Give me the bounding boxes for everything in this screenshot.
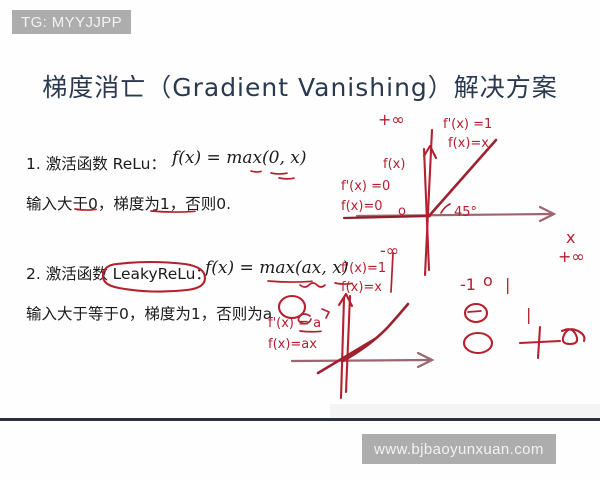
leaky-rising-branch: [343, 304, 408, 361]
underline-max: [268, 281, 312, 282]
label-leaky-func-x: f(x)=x: [341, 280, 382, 295]
item-1-label: 1. 激活函数 ReLu：: [26, 152, 166, 174]
label-func-x: f(x)=x: [448, 136, 489, 151]
relu-y-arrowhead: [424, 146, 436, 158]
note-row-3-zero: [464, 333, 492, 353]
leaky-x-axis: [292, 360, 430, 361]
label-45-degrees: 45°: [454, 205, 477, 220]
relu-x-axis: [357, 214, 552, 216]
leaky-vertical-tick: [391, 253, 393, 292]
label-x-axis: x: [566, 228, 575, 247]
item-2-formula: f(x) = max(ax, x): [205, 258, 348, 278]
note-row-1: -1: [460, 275, 476, 294]
label-deriv-one: f'(x) =1: [443, 117, 492, 132]
leaky-y-axis-a: [341, 298, 344, 398]
label-origin: o: [398, 204, 406, 219]
arrow-scribble: [322, 309, 329, 318]
label-leaky-deriv-a: f'(x) = a: [268, 316, 321, 331]
relu-rising-branch: [429, 140, 496, 216]
watermark-bottom: www.bjbaoyunxuan.com: [362, 434, 556, 464]
note-plus-horizontal: [520, 341, 560, 343]
note-row-1-one: |: [505, 275, 510, 294]
leaky-y-arrowhead: [339, 294, 352, 306]
note-row-2-one: |: [526, 305, 531, 324]
item-1-formula-text: f(x) = max(0, x): [172, 148, 307, 168]
label-plus-infinity-top: +∞: [378, 110, 405, 129]
leaky-x-arrowhead: [418, 353, 432, 367]
leaky-y-axis-b: [346, 296, 350, 392]
label-minus-infinity: -∞: [380, 241, 399, 260]
relu-angle-arc: [441, 204, 450, 213]
note-row-1-zero: o: [483, 271, 493, 290]
note-circled-zero: [465, 304, 487, 322]
leaky-left-branch: [318, 339, 375, 373]
divider-glow: [330, 404, 600, 418]
divider-rule: [0, 418, 600, 421]
slide-canvas: 梯度消亡（Gradient Vanishing）解决方案 1. 激活函数 ReL…: [0, 0, 600, 480]
underline-x-3: [335, 283, 352, 284]
item-2-formula-text: f(x) = max(ax, x): [205, 258, 348, 278]
underline-a-value: [300, 331, 321, 332]
label-func-zero: f(x)=0: [341, 199, 383, 214]
label-x-plus-infinity: +∞: [558, 247, 585, 266]
note-plus-vertical: [538, 327, 540, 358]
underline-x-2: [279, 178, 294, 179]
label-leaky-func-ax: f(x)=ax: [268, 337, 317, 352]
underline-x: [271, 173, 287, 174]
note-infinity-symbol: [562, 329, 584, 344]
item-1-formula: f(x) = max(0, x): [172, 148, 307, 168]
note-zero-stroke: [468, 311, 481, 312]
watermark-top: TG: MYYJJPP: [12, 10, 131, 34]
underline-zero: [251, 171, 261, 172]
label-deriv-zero: f'(x) =0: [341, 179, 390, 194]
item-2-label: 2. 激活函数 LeakyReLu：: [26, 262, 211, 284]
circle-a: [279, 296, 305, 318]
page-title: 梯度消亡（Gradient Vanishing）解决方案: [0, 68, 600, 104]
item-1-description: 输入大于0，梯度为1，否则0.: [26, 192, 231, 214]
item-2-description: 输入大于等于0，梯度为1，否则为a: [26, 302, 272, 324]
relu-x-arrowhead: [540, 207, 554, 221]
scribble-mark: [298, 314, 311, 324]
relu-y-axis-a: [424, 149, 429, 270]
label-f-axis: f(x): [383, 157, 405, 172]
squiggle-ax: [300, 283, 325, 287]
relu-left-branch: [344, 216, 430, 218]
relu-y-axis-b: [425, 130, 432, 275]
